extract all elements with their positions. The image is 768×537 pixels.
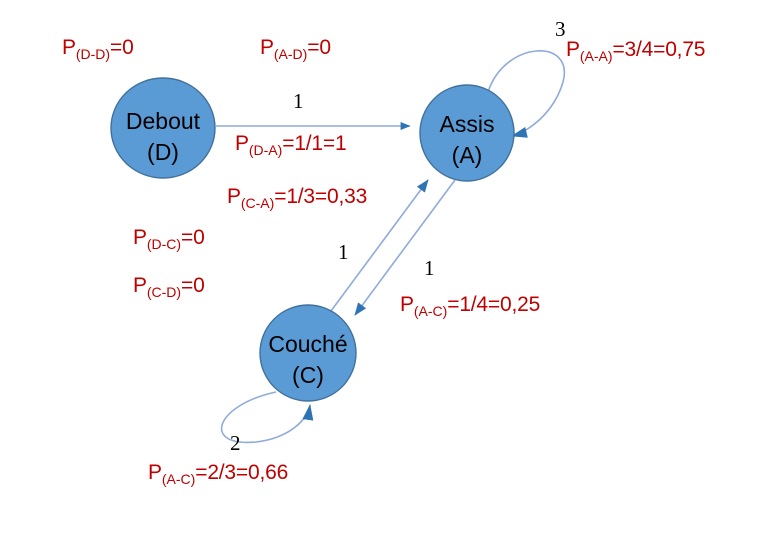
probability-label-dc: P(D-C)=0 xyxy=(133,226,205,252)
prob-pair-cc: (A-C) xyxy=(162,471,195,487)
probability-label-dd: P(D-D)=0 xyxy=(62,36,134,62)
prob-pair-cd: (C-D) xyxy=(147,284,181,300)
node-debout[interactable]: Debout (D) xyxy=(111,78,215,178)
count-label-assis-self: 3 xyxy=(555,17,566,42)
node-debout-label-line1: Debout xyxy=(126,108,201,134)
prob-value-ac: =1/4=0,25 xyxy=(447,293,540,316)
prob-p-symbol: P xyxy=(566,38,580,61)
node-debout-label-line2: (D) xyxy=(147,139,179,165)
state-diagram-canvas: Debout (D) Assis (A) Couché (C) xyxy=(0,0,768,537)
count-label-c-to-a: 1 xyxy=(338,240,349,265)
prob-pair-ad: (A-D) xyxy=(274,46,307,62)
prob-value-ca: =1/3=0,33 xyxy=(274,185,367,208)
prob-p-symbol: P xyxy=(260,36,274,59)
prob-p-symbol: P xyxy=(235,132,249,155)
prob-pair-aa: (A-A) xyxy=(580,48,613,64)
count-label-a-to-c: 1 xyxy=(424,256,435,281)
probability-label-da: P(D-A)=1/1=1 xyxy=(235,132,346,158)
prob-p-symbol: P xyxy=(62,36,76,59)
prob-pair-dc: (D-C) xyxy=(147,236,181,252)
prob-value-dc: =0 xyxy=(181,226,205,249)
prob-p-symbol: P xyxy=(148,461,162,484)
prob-p-symbol: P xyxy=(400,293,414,316)
node-couche-label-line1: Couché xyxy=(268,331,347,357)
prob-value-aa: =3/4=0,75 xyxy=(612,38,705,61)
probability-label-cc: P(A-C)=2/3=0,66 xyxy=(148,461,288,487)
node-assis-label-line2: (A) xyxy=(452,142,483,168)
node-couche[interactable]: Couché (C) xyxy=(260,305,356,401)
probability-label-ad: P(A-D)=0 xyxy=(260,36,331,62)
probability-label-ca: P(C-A)=1/3=0,33 xyxy=(227,185,367,211)
count-label-couche-self: 2 xyxy=(230,431,241,456)
prob-p-symbol: P xyxy=(227,185,241,208)
prob-pair-da: (D-A) xyxy=(249,142,282,158)
prob-value-ad: =0 xyxy=(307,36,331,59)
prob-pair-ca: (C-A) xyxy=(241,195,274,211)
count-label-d-to-a: 1 xyxy=(293,89,304,114)
prob-pair-dd: (D-D) xyxy=(76,46,110,62)
prob-value-da: =1/1=1 xyxy=(282,132,346,155)
prob-pair-ac: (A-C) xyxy=(414,303,447,319)
probability-label-cd: P(C-D)=0 xyxy=(133,274,205,300)
node-assis-label-line1: Assis xyxy=(440,111,495,137)
prob-value-dd: =0 xyxy=(110,36,134,59)
probability-label-ac: P(A-C)=1/4=0,25 xyxy=(400,293,540,319)
prob-p-symbol: P xyxy=(133,274,147,297)
node-couche-label-line2: (C) xyxy=(292,362,324,388)
node-assis[interactable]: Assis (A) xyxy=(420,85,514,181)
prob-p-symbol: P xyxy=(133,226,147,249)
probability-label-aa: P(A-A)=3/4=0,75 xyxy=(566,38,705,64)
prob-value-cc: =2/3=0,66 xyxy=(195,461,288,484)
prob-value-cd: =0 xyxy=(181,274,205,297)
